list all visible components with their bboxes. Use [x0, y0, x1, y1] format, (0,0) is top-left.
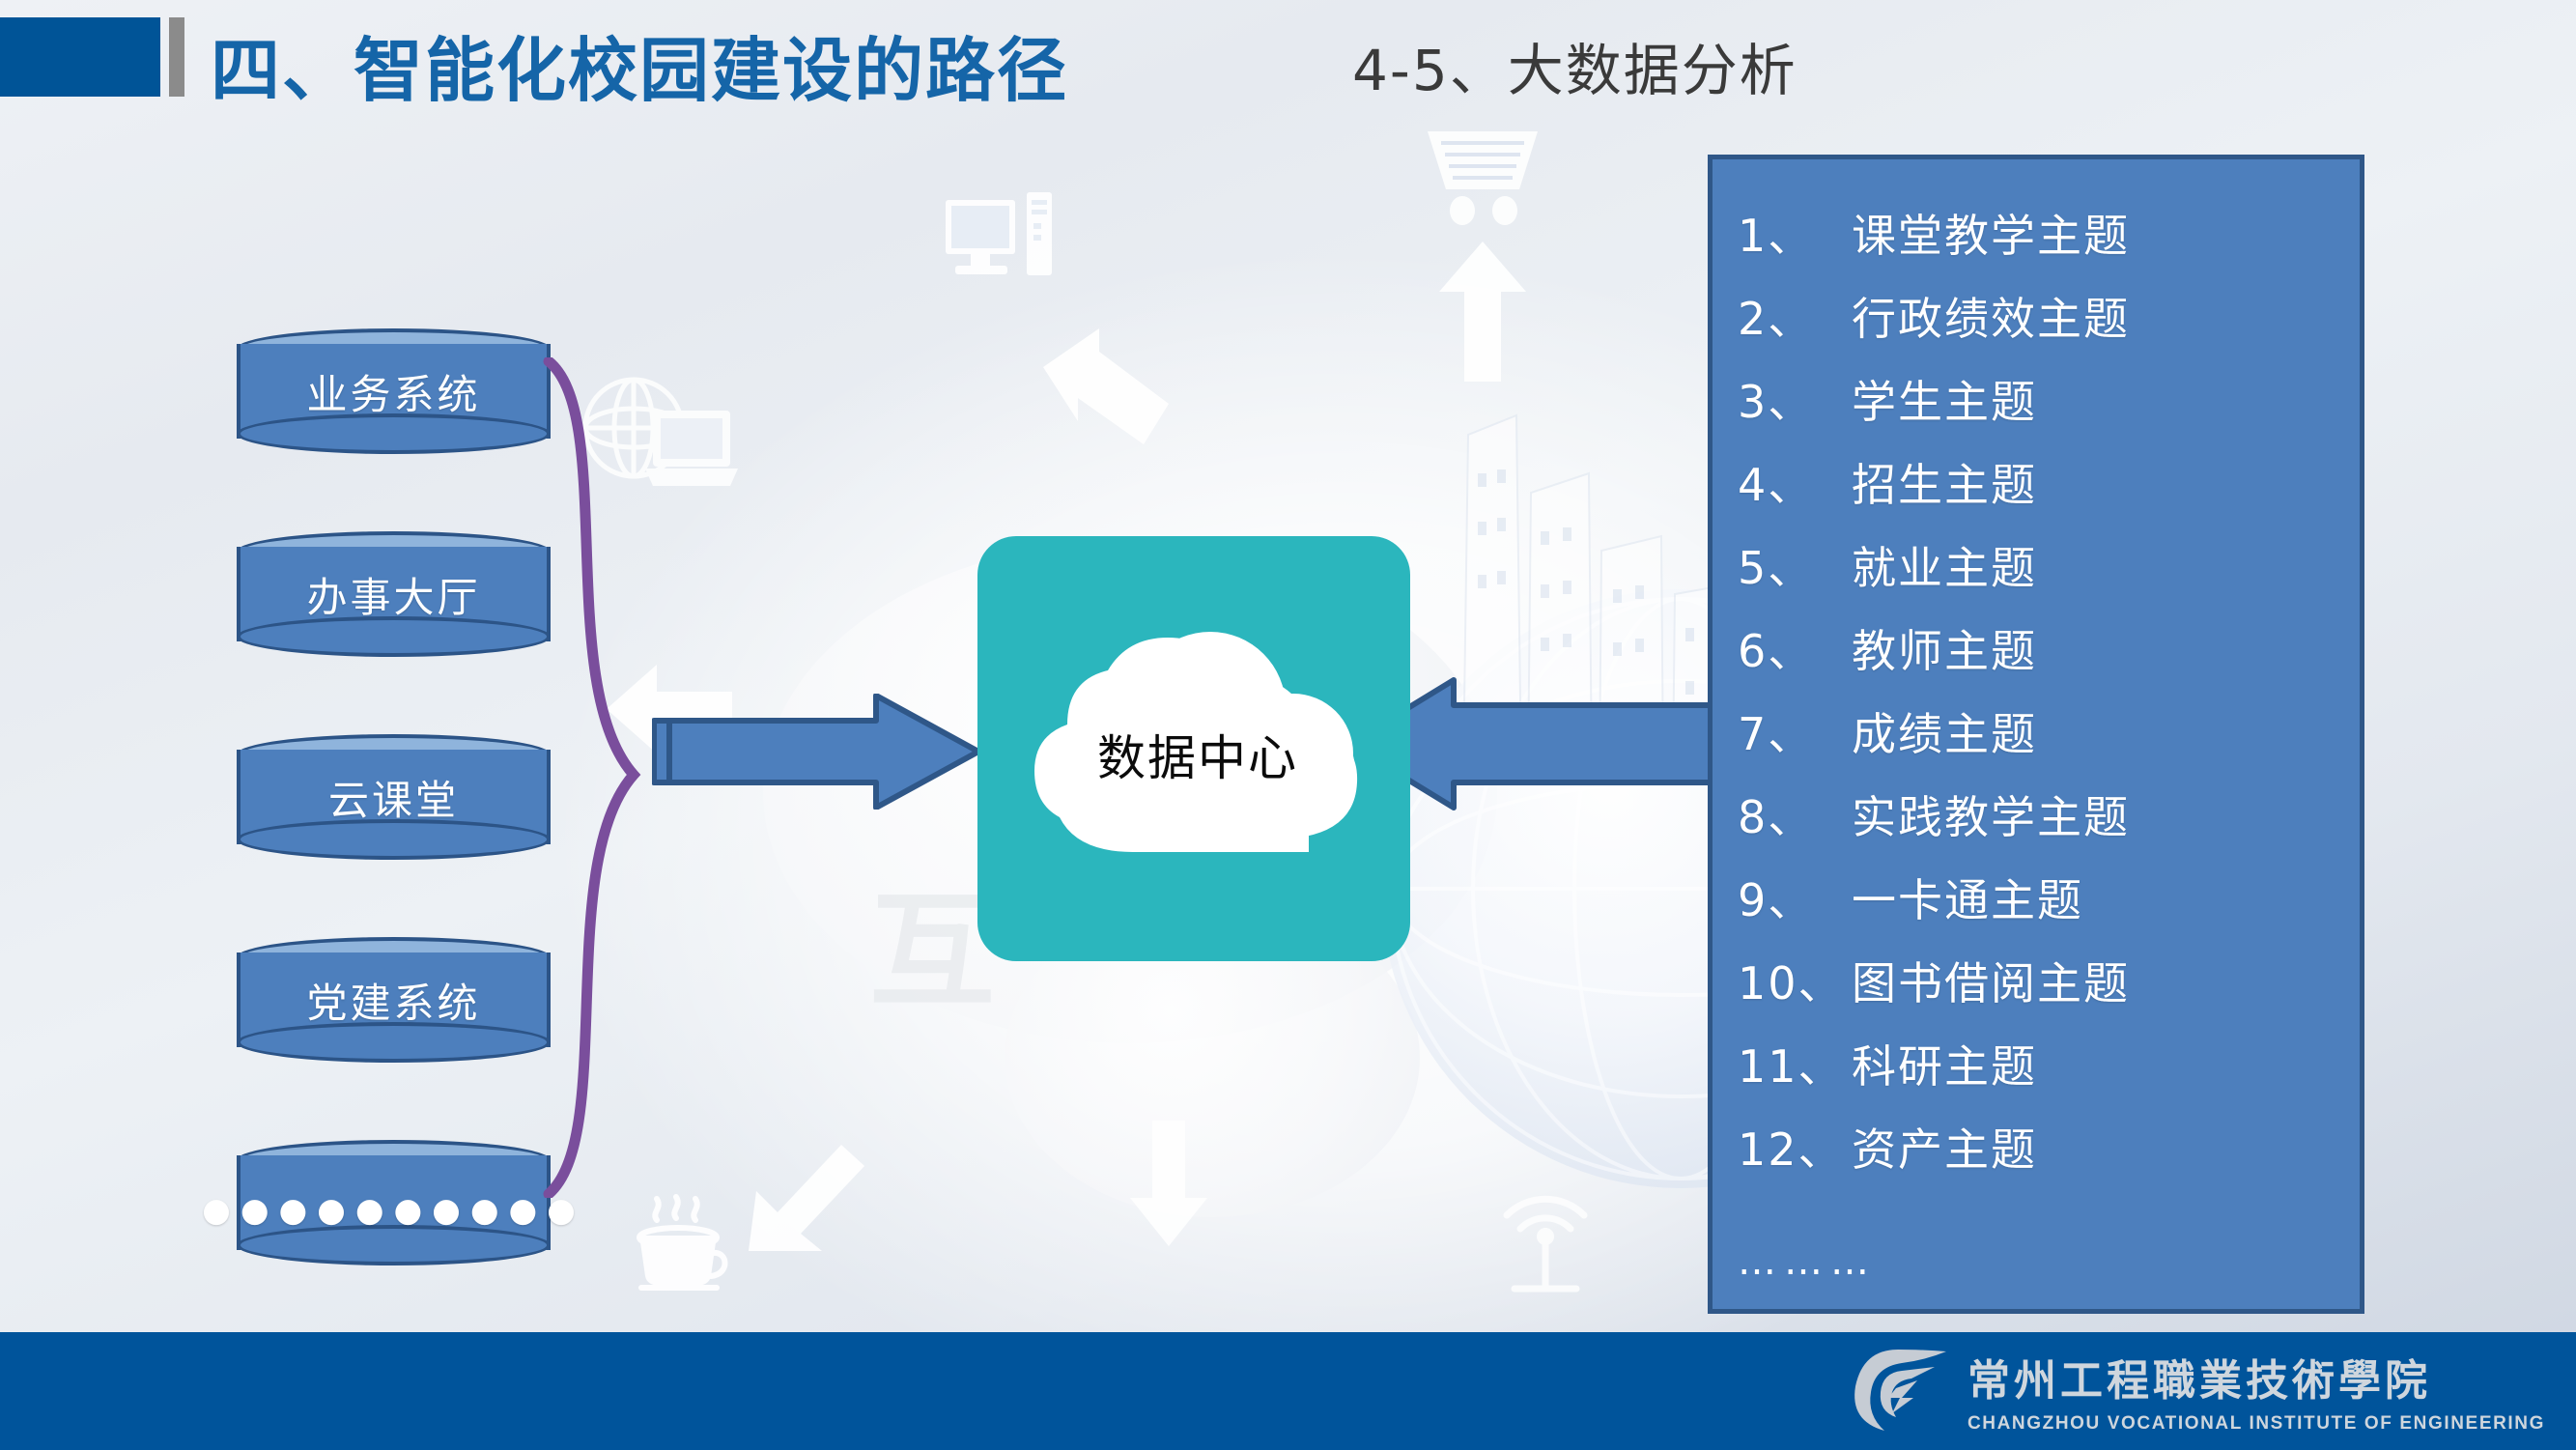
theme-row[interactable]: 6、教师主题 [1738, 610, 2360, 693]
header-accent-bar [169, 17, 184, 97]
theme-number: 6、 [1738, 610, 1852, 693]
theme-row[interactable]: 4、招生主题 [1738, 443, 2360, 526]
desktop-computer-icon [942, 188, 1072, 295]
theme-label: 成绩主题 [1852, 708, 2037, 760]
theme-row[interactable]: 7、成绩主题 [1738, 693, 2360, 776]
theme-number: 9、 [1738, 859, 1852, 942]
theme-label: 教师主题 [1852, 625, 2037, 677]
theme-number: 11、 [1738, 1025, 1852, 1108]
data-center-label: 数据中心 [1019, 720, 1376, 789]
theme-label: 课堂教学主题 [1852, 210, 2130, 262]
source-cylinder-0[interactable]: 业务系统 [237, 328, 551, 454]
source-cylinder-2[interactable]: 云课堂 [237, 734, 551, 860]
theme-label: 资产主题 [1852, 1123, 2037, 1176]
shopping-cart-icon [1420, 126, 1545, 227]
source-cylinder-4[interactable]: ●●●●●●●●●● [237, 1140, 551, 1265]
theme-number: 1、 [1738, 194, 1852, 277]
source-label: 业务系统 [237, 328, 551, 454]
arrow-sources-to-center [652, 694, 980, 810]
wifi-icon [1487, 1188, 1603, 1304]
theme-number: 2、 [1738, 277, 1852, 360]
theme-label: 就业主题 [1852, 542, 2037, 594]
source-label: 党建系统 [237, 937, 551, 1063]
theme-number: 10、 [1738, 942, 1852, 1025]
institution-logo: 常州工程職業技術學院 CHANGZHOU VOCATIONAL INSTITUT… [1842, 1344, 2545, 1436]
source-label: 办事大厅 [237, 531, 551, 657]
theme-row[interactable]: 1、课堂教学主题 [1738, 194, 2360, 277]
theme-row[interactable]: 8、实践教学主题 [1738, 776, 2360, 859]
theme-number: 7、 [1738, 693, 1852, 776]
theme-number: 5、 [1738, 526, 1852, 610]
slide-root: 互 四、智能化校园建设的路径 4-5、大数据分析 业务系统 办事大厅 云课堂 党… [0, 0, 2576, 1450]
theme-label: 学生主题 [1852, 376, 2037, 428]
theme-row[interactable]: 3、学生主题 [1738, 360, 2360, 443]
themes-panel: 1、课堂教学主题 2、行政绩效主题 3、学生主题 4、招生主题 5、就业主题 6… [1708, 155, 2364, 1314]
theme-row[interactable]: 9、一卡通主题 [1738, 859, 2360, 942]
theme-label: 实践教学主题 [1852, 791, 2130, 843]
theme-number: 4、 [1738, 443, 1852, 526]
grouping-brace [541, 357, 657, 1198]
arrow-upleft-icon [1043, 328, 1169, 444]
arrow-up-icon [1439, 242, 1526, 382]
footer-bar: 常州工程職業技術學院 CHANGZHOU VOCATIONAL INSTITUT… [0, 1332, 2576, 1450]
themes-ellipsis: ……… [1738, 1239, 2360, 1284]
theme-row[interactable]: 11、科研主题 [1738, 1025, 2360, 1108]
theme-label: 图书借阅主题 [1852, 957, 2130, 1009]
source-cylinder-3[interactable]: 党建系统 [237, 937, 551, 1063]
theme-row[interactable]: 2、行政绩效主题 [1738, 277, 2360, 360]
theme-row[interactable]: 10、图书借阅主题 [1738, 942, 2360, 1025]
logo-text-block: 常州工程職業技術學院 CHANGZHOU VOCATIONAL INSTITUT… [1967, 1346, 2545, 1435]
theme-label: 一卡通主题 [1852, 874, 2083, 926]
theme-number: 3、 [1738, 360, 1852, 443]
source-cylinder-1[interactable]: 办事大厅 [237, 531, 551, 657]
page-subtitle: 4-5、大数据分析 [1352, 25, 1798, 106]
arrow-downleft-icon [749, 1145, 864, 1251]
theme-label: 科研主题 [1852, 1040, 2037, 1093]
logo-name-en: CHANGZHOU VOCATIONAL INSTITUTE OF ENGINE… [1967, 1413, 2545, 1435]
theme-number: 12、 [1738, 1108, 1852, 1191]
swoosh-c-logo [1842, 1344, 1950, 1436]
page-title: 四、智能化校园建设的路径 [211, 14, 1068, 115]
theme-label: 招生主题 [1852, 459, 2037, 511]
source-label: 云课堂 [237, 734, 551, 860]
source-label: ●●●●●●●●●● [237, 1140, 551, 1273]
theme-row[interactable]: 5、就业主题 [1738, 526, 2360, 610]
theme-label: 行政绩效主题 [1852, 293, 2130, 345]
theme-row[interactable]: 12、资产主题 [1738, 1108, 2360, 1191]
logo-name-cn: 常州工程職業技術學院 [1967, 1346, 2431, 1407]
header-accent-block [0, 17, 160, 97]
coffee-cup-icon [628, 1193, 739, 1304]
theme-number: 8、 [1738, 776, 1852, 859]
